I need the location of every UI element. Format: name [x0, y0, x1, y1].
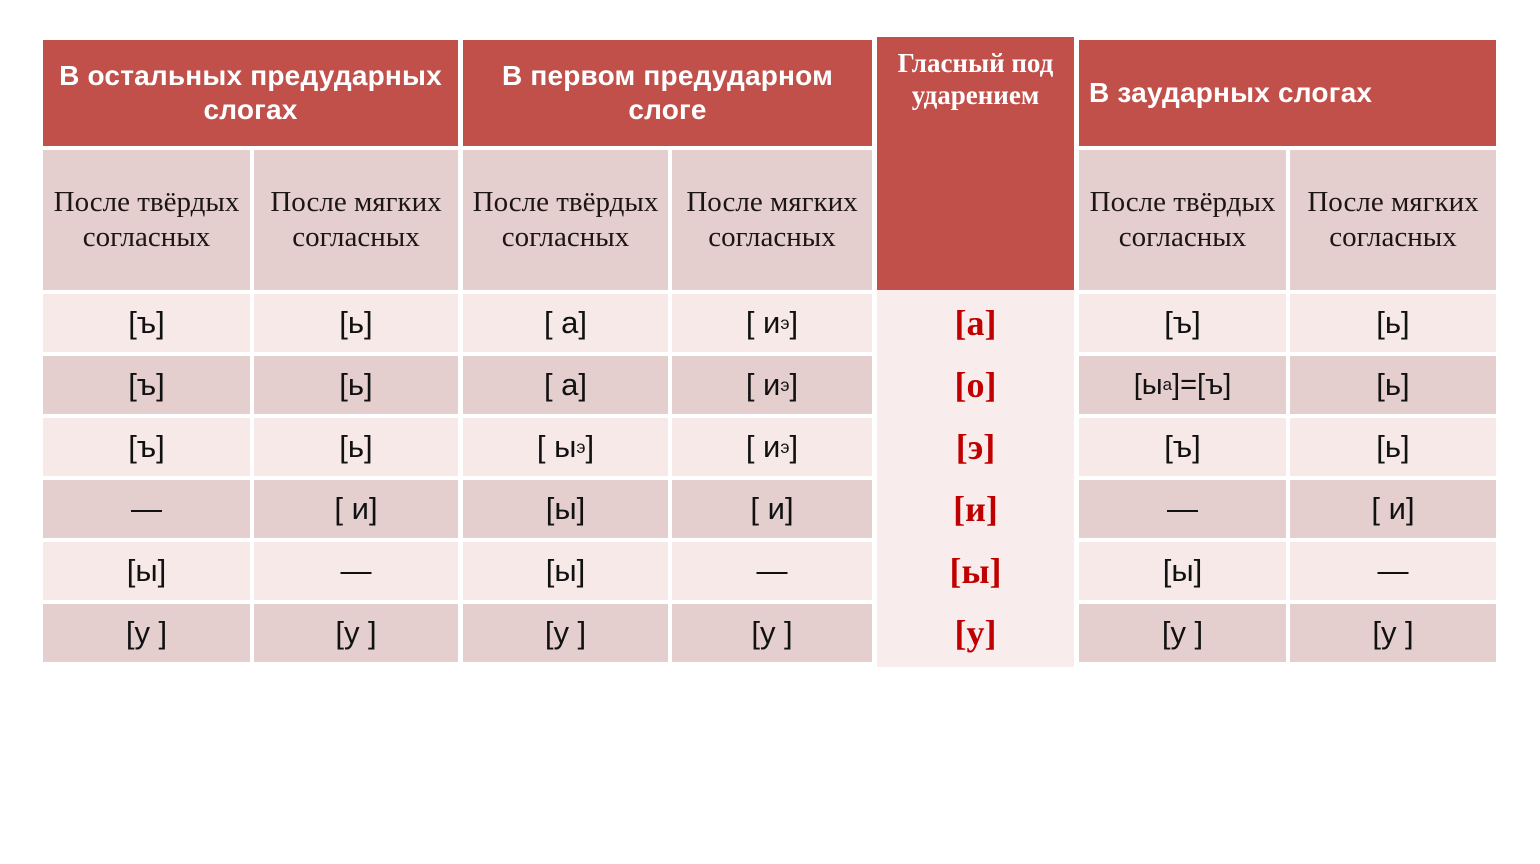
table-cell: [ъ]	[1079, 294, 1286, 352]
group-header-stressed-vowel: Гласный под ударением	[877, 37, 1074, 290]
table-cell: —	[1290, 542, 1496, 600]
stressed-vowel-value: [э]	[956, 427, 996, 467]
table-cell: [у ]	[463, 604, 668, 662]
cell-value: [ъ]	[128, 430, 165, 465]
stressed-vowel-value: [ы]	[949, 551, 1001, 591]
table-cell: —	[672, 542, 872, 600]
table-cell: [ а]	[463, 294, 668, 352]
table-cell: [ы]	[463, 542, 668, 600]
subheader-label: После мягких согласных	[254, 185, 458, 255]
table-cell: [у ]	[43, 604, 250, 662]
table-cell: [ь]	[254, 356, 458, 414]
stressed-vowel-cell: [э]	[877, 418, 1074, 476]
table-cell: [ы]	[1079, 542, 1286, 600]
stressed-vowel-value: [у]	[955, 613, 997, 653]
stressed-vowel-value: [и]	[953, 489, 998, 529]
subheader-posttonic-soft: После мягких согласных	[1290, 150, 1496, 290]
group-header-other-pretonic-label: В остальных предударных слогах	[43, 59, 458, 127]
table-cell: [ъ]	[1079, 418, 1286, 476]
cell-value-tail: ]	[790, 430, 799, 465]
cell-value: [у ]	[545, 616, 586, 651]
subheader-label: После твёрдых согласных	[463, 185, 668, 255]
subheader-first-pretonic-soft: После мягких согласных	[672, 150, 872, 290]
cell-value: [ь]	[339, 368, 372, 403]
table-cell: [у ]	[1290, 604, 1496, 662]
stressed-vowel-value: [о]	[955, 365, 997, 405]
subheader-label: После мягких согласных	[672, 185, 872, 255]
cell-value: [ъ]	[1164, 306, 1201, 341]
cell-value-base: [ы	[1134, 369, 1163, 401]
stressed-vowel-value: [а]	[955, 303, 997, 343]
cell-value: [ь]	[1376, 430, 1409, 465]
stressed-vowel-cell: [о]	[877, 356, 1074, 414]
cell-value: [ь]	[339, 306, 372, 341]
cell-value: [ы]	[546, 554, 586, 589]
group-header-posttonic-label: В заударных слогах	[1089, 76, 1372, 110]
table-cell: [ ыэ]	[463, 418, 668, 476]
cell-value: [ь]	[1376, 306, 1409, 341]
cell-value: [ и]	[334, 492, 377, 527]
cell-value: —	[341, 554, 372, 589]
group-header-other-pretonic: В остальных предударных слогах	[43, 40, 458, 146]
cell-value: [ы]	[127, 554, 167, 589]
cell-value: [ы]	[546, 492, 586, 527]
table-cell: [у ]	[254, 604, 458, 662]
table-cell: [ь]	[254, 418, 458, 476]
group-header-first-pretonic-label: В первом предударном слоге	[463, 59, 872, 127]
cell-value: [ъ]	[128, 306, 165, 341]
cell-value: [ь]	[339, 430, 372, 465]
cell-value: [ а]	[544, 368, 587, 403]
table-cell: [ иэ]	[672, 418, 872, 476]
cell-value-base: [ и	[746, 430, 781, 465]
stressed-vowel-cell: [ы]	[877, 542, 1074, 600]
table-cell: [ и]	[672, 480, 872, 538]
phonetic-reduction-table: В остальных предударных слогах В первом …	[43, 37, 1496, 667]
subheader-other-pretonic-soft: После мягких согласных	[254, 150, 458, 290]
cell-value: [у ]	[1372, 616, 1413, 651]
group-header-stressed-vowel-label: Гласный под ударением	[877, 47, 1074, 112]
cell-value-base: [ и	[746, 368, 781, 403]
cell-value: —	[1167, 492, 1198, 527]
table-cell: [ъ]	[43, 418, 250, 476]
table-cell: [ъ]	[43, 294, 250, 352]
table-cell: [ и]	[254, 480, 458, 538]
cell-value-base: [ и	[746, 306, 781, 341]
cell-value-tail: ]	[586, 430, 595, 465]
group-header-posttonic: В заударных слогах	[1079, 40, 1496, 146]
table-cell: [ыа ]=[ъ]	[1079, 356, 1286, 414]
table-cell: [у ]	[672, 604, 872, 662]
cell-value: [ъ]	[128, 368, 165, 403]
table-cell: [ иэ]	[672, 294, 872, 352]
table-cell: [ иэ]	[672, 356, 872, 414]
stressed-vowel-cell: [а]	[877, 294, 1074, 352]
cell-value: [у ]	[1162, 616, 1203, 651]
cell-value: [ъ]	[1164, 430, 1201, 465]
cell-value: [у ]	[751, 616, 792, 651]
cell-value: [ и]	[1371, 492, 1414, 527]
cell-value-tail: ]	[790, 306, 799, 341]
table-cell: [ь]	[254, 294, 458, 352]
cell-value: [у ]	[335, 616, 376, 651]
subheader-label: После твёрдых согласных	[43, 185, 250, 255]
stressed-vowel-cell: [у]	[877, 604, 1074, 662]
table-cell: [ь]	[1290, 418, 1496, 476]
cell-value: [ а]	[544, 306, 587, 341]
subheader-other-pretonic-hard: После твёрдых согласных	[43, 150, 250, 290]
table-cell: —	[43, 480, 250, 538]
table-cell: [ и]	[1290, 480, 1496, 538]
cell-value: [ы]	[1163, 554, 1203, 589]
stressed-vowel-cell: [и]	[877, 480, 1074, 538]
table-cell: [ь]	[1290, 294, 1496, 352]
cell-value-tail: ]=[ъ]	[1172, 369, 1231, 401]
cell-value: [ь]	[1376, 368, 1409, 403]
cell-value: —	[131, 492, 162, 527]
subheader-label: После твёрдых согласных	[1079, 185, 1286, 255]
subheader-first-pretonic-hard: После твёрдых согласных	[463, 150, 668, 290]
table-cell: [ы]	[43, 542, 250, 600]
cell-value: [ и]	[750, 492, 793, 527]
table-cell: [ъ]	[43, 356, 250, 414]
table-cell: [ а]	[463, 356, 668, 414]
cell-value: —	[1378, 554, 1409, 589]
table-cell: [ь]	[1290, 356, 1496, 414]
cell-value-base: [ ы	[537, 430, 577, 465]
subheader-label: После мягких согласных	[1290, 185, 1496, 255]
group-header-first-pretonic: В первом предударном слоге	[463, 40, 872, 146]
table-cell: [ы]	[463, 480, 668, 538]
cell-value-tail: ]	[790, 368, 799, 403]
cell-value: [у ]	[126, 616, 167, 651]
cell-value: —	[757, 554, 788, 589]
table-cell: —	[1079, 480, 1286, 538]
table-cell: [у ]	[1079, 604, 1286, 662]
subheader-posttonic-hard: После твёрдых согласных	[1079, 150, 1286, 290]
table-cell: —	[254, 542, 458, 600]
